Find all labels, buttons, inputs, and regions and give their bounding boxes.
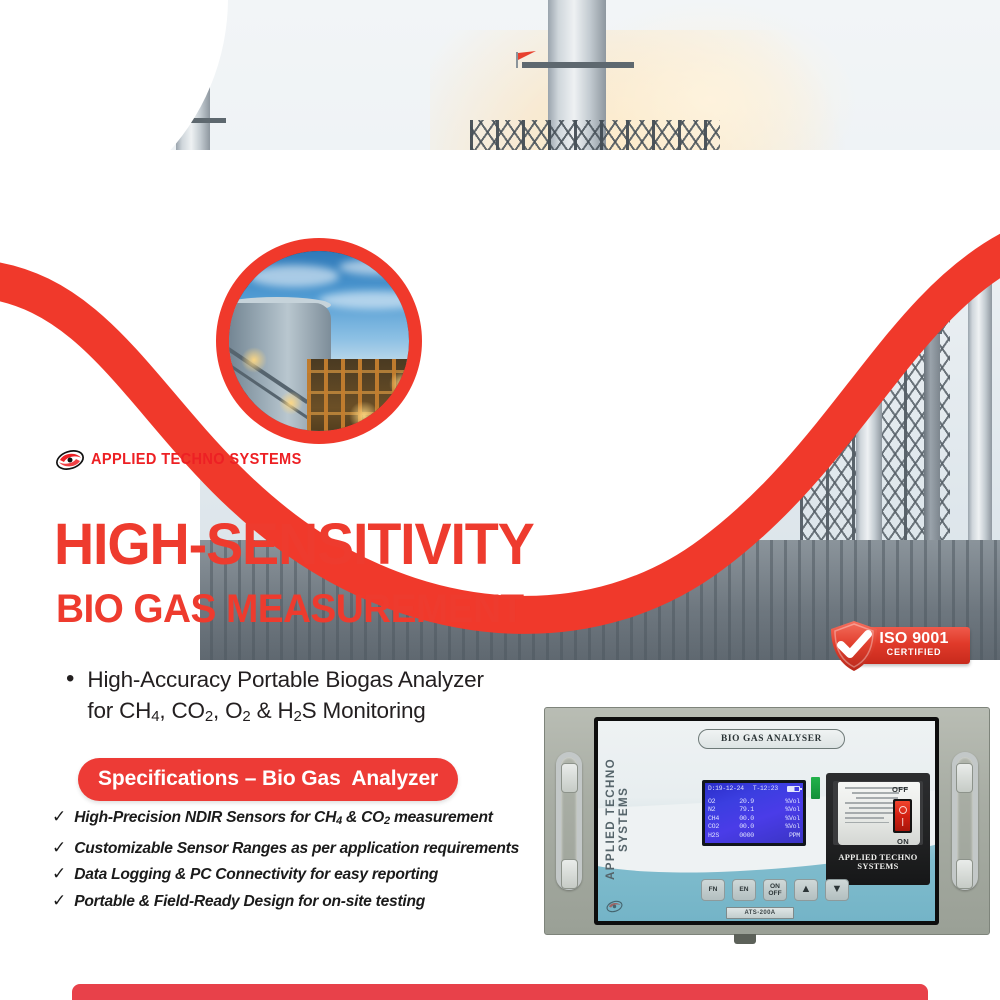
headline-primary: HIGH-SENSITIVITY [54,516,534,574]
key-down-arrow[interactable]: ▼ [825,879,849,901]
lamp-post [186,238,188,264]
check-text-post: measurement [390,809,493,826]
company-logo[interactable]: APPLIED TECHNO SYSTEMS [55,448,315,472]
lcd-status-bar: D:19-12-24 T-12:23 [708,785,800,792]
key-fn[interactable]: FN [701,879,725,901]
bottom-red-bar [72,984,928,1000]
handle-pad [956,859,973,889]
refinery-pipe [494,226,614,240]
key-en[interactable]: EN [732,879,756,901]
key-up-arrow[interactable]: ▲ [794,879,818,901]
inset-scene [229,251,409,431]
inset-cloud [339,259,409,275]
checklist-item: ✓ Data Logging & PC Connectivity for eas… [52,863,572,885]
shield-check-icon [826,618,882,674]
key-on-off[interactable]: ON OFF [763,879,787,901]
lcd-gas-label: CH4 [708,815,739,823]
check-icon: ✓ [52,806,66,827]
intro-mid2: , O [213,698,242,723]
bullet-marker: • [66,664,74,732]
device-foot [734,934,756,944]
lcd-readings: O2 20.9 %Vol N2 79.1 %Vol CH4 [708,798,800,840]
refinery-strut [470,300,720,304]
refinery-column [606,150,632,550]
lamp-post [96,240,98,266]
headline-secondary: BIO GAS MEASUREMENT [56,589,524,629]
checklist-item-text: Data Logging & PC Connectivity for easy … [74,864,438,885]
lcd-date: D:19-12-24 [708,785,744,792]
logo-swirl-icon [55,448,85,472]
receipt-line [845,822,889,824]
inset-light-glow [389,371,409,397]
lcd-gas-label: O2 [708,798,739,806]
device-vertical-brand: APPLIED TECHNO SYSTEMS [604,739,626,899]
intro-line1: High-Accuracy Portable Biogas Analyzer [87,667,483,692]
check-icon: ✓ [52,837,66,858]
device-title-plate: BIO GAS ANALYSER [698,729,845,749]
intro-bullet-text: High-Accuracy Portable Biogas Analyzer f… [87,664,483,732]
lcd-gas-label: H2S [708,832,739,840]
printer-brand-label: APPLIED TECHNO SYSTEMS [826,853,930,871]
refinery-column [512,190,532,550]
refinery-column [968,180,992,560]
poster-root: APPLIED TECHNO SYSTEMS HIGH-SENSITIVITY … [0,0,1000,1000]
refinery-pipe [700,170,724,500]
thermal-printer: APPLIED TECHNO SYSTEMS [826,773,930,885]
intro-mid1: , CO [159,698,204,723]
battery-icon [787,786,800,792]
lcd-gas-unit: %Vol [772,806,800,814]
sub-o2: 2 [242,708,250,725]
bio-gas-analyser-device: BIO GAS ANALYSER APPLIED TECHNO SYSTEMS … [544,707,990,935]
lcd-reading-row: N2 79.1 %Vol [708,806,800,814]
iso-9001-badge: ISO 9001 CERTIFIED [818,618,970,674]
inset-cloud [249,265,339,287]
handle-pad [956,763,973,793]
sub-h2s: 2 [294,708,302,725]
device-logo-icon [606,899,623,914]
lcd-gas-label: CO2 [708,823,739,831]
lcd-display: D:19-12-24 T-12:23 O2 20.9 %Vol N2 [705,783,803,843]
lcd-gas-unit: PPM [772,832,800,840]
receipt-line [856,797,898,799]
device-front-panel: BIO GAS ANALYSER APPLIED TECHNO SYSTEMS … [598,721,935,921]
check-text-mid: & CO [342,809,384,826]
power-rocker-button[interactable] [895,801,910,831]
lcd-gas-value: 00.0 [739,823,772,831]
check-icon: ✓ [52,863,66,884]
device-model-plate: ATS-200A [726,907,794,919]
status-led-green [811,777,820,799]
check-icon: ✓ [52,890,66,911]
checklist-item: ✓ High-Precision NDIR Sensors for CH4 & … [52,806,572,832]
lcd-gas-unit: %Vol [772,798,800,806]
refinery-lattice [470,120,720,550]
lcd-reading-row: CH4 00.0 %Vol [708,815,800,823]
check-text-pre: High-Precision NDIR Sensors for CH [74,809,336,826]
sub-co2: 2 [205,708,213,725]
refinery-pipe [640,160,736,178]
power-switch[interactable] [893,799,912,833]
lcd-gas-value: 20.9 [739,798,772,806]
intro-line2-suffix: S Monitoring [302,698,426,723]
refinery-column [924,300,940,556]
checklist-item-text: Portable & Field-Ready Design for on-sit… [74,891,425,912]
intro-bullet: • High-Accuracy Portable Biogas Analyzer… [66,664,566,732]
checklist-item: ✓ Portable & Field-Ready Design for on-s… [52,890,572,912]
lcd-bezel: D:19-12-24 T-12:23 O2 20.9 %Vol N2 [702,780,806,846]
handle-pad [561,763,578,793]
lcd-gas-value: 0000 [739,832,772,840]
refinery-column [856,236,882,556]
handle-pad [561,859,578,889]
inset-light-glow [279,391,303,415]
device-faceplate: BIO GAS ANALYSER APPLIED TECHNO SYSTEMS … [594,717,939,925]
checklist-item-text: High-Precision NDIR Sensors for CH4 & CO… [74,807,492,832]
lcd-reading-row: CO2 00.0 %Vol [708,823,800,831]
lcd-gas-value: 00.0 [739,815,772,823]
switch-on-label: ON [897,837,909,846]
refinery-deck [522,62,634,68]
intro-line2-prefix: for CH [87,698,151,723]
logo-wordmark: APPLIED TECHNO SYSTEMS [91,451,302,469]
checklist-item: ✓ Customizable Sensor Ranges as per appl… [52,837,572,859]
specifications-pill: Specifications – Bio Gas Analyzer [78,758,458,801]
inset-light-glow [349,401,379,431]
circle-inset-photo [216,238,422,444]
refinery-deck [164,200,222,204]
lcd-gas-label: N2 [708,806,739,814]
refinery-deck [812,330,942,334]
receipt-line [845,817,884,819]
lcd-gas-unit: %Vol [772,815,800,823]
switch-off-label: OFF [892,785,908,794]
lcd-gas-unit: %Vol [772,823,800,831]
inset-light-glow [241,347,267,373]
spec-checklist: ✓ High-Precision NDIR Sensors for CH4 & … [52,806,572,916]
device-keypad: FN EN ON OFF ▲ ▼ [701,879,849,901]
intro-mid3: & H [251,698,294,723]
lcd-gas-value: 79.1 [739,806,772,814]
refinery-strut [470,420,720,424]
lcd-reading-row: O2 20.9 %Vol [708,798,800,806]
lamp-post [140,246,142,272]
lcd-reading-row: H2S 0000 PPM [708,832,800,840]
checklist-item-text: Customizable Sensor Ranges as per applic… [74,838,519,859]
lcd-time: T-12:23 [753,785,778,792]
